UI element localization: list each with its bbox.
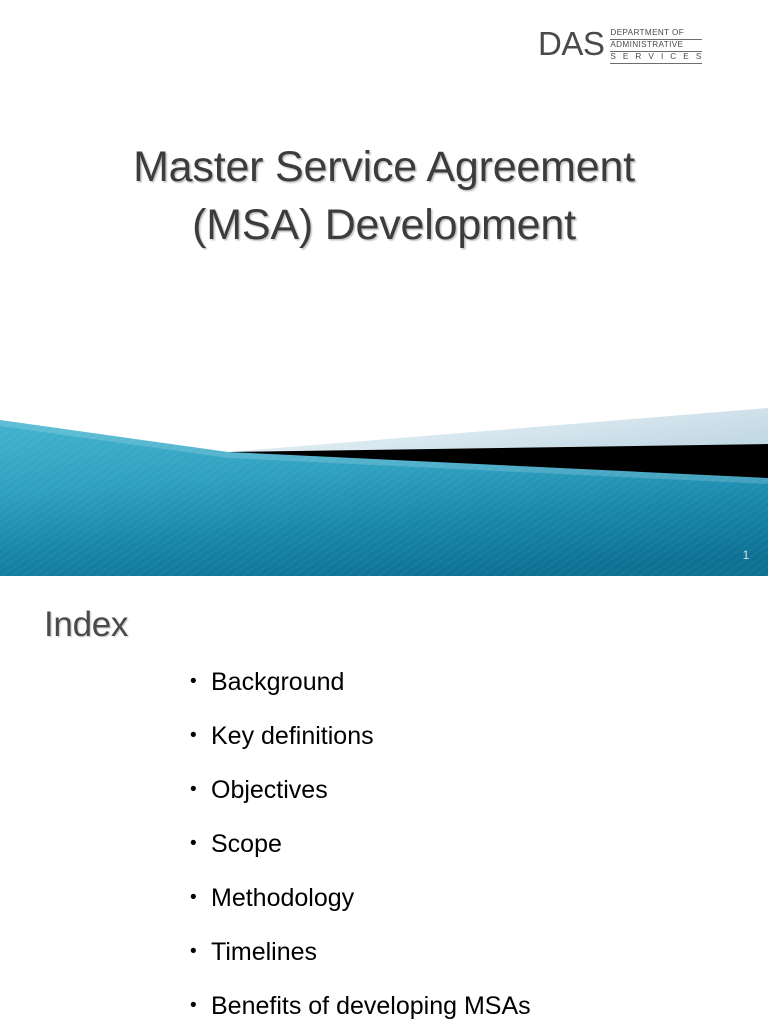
- list-item: Benefits of developing MSAs: [190, 992, 730, 1020]
- index-heading: Index: [44, 604, 128, 646]
- list-item: Key definitions: [190, 722, 730, 750]
- slide-number: 1: [738, 548, 754, 562]
- das-logo-line-administrative: ADMINISTRATIVE: [610, 40, 702, 52]
- index-list: Background Key definitions Objectives Sc…: [190, 668, 730, 1024]
- das-logo-line-services: S E R V I C E S: [610, 52, 702, 64]
- list-item: Timelines: [190, 938, 730, 966]
- das-logo-line-department: DEPARTMENT OF: [610, 28, 702, 40]
- slide-title: Master Service Agreement (MSA) Developme…: [50, 138, 718, 254]
- list-item: Methodology: [190, 884, 730, 912]
- slide-title-line-2: (MSA) Development: [50, 196, 718, 254]
- das-logo-subtext: DEPARTMENT OF ADMINISTRATIVE S E R V I C…: [610, 28, 702, 64]
- list-item: Background: [190, 668, 730, 696]
- list-item: Scope: [190, 830, 730, 858]
- slide-title-line-1: Master Service Agreement: [50, 138, 718, 196]
- title-slide: DAS DEPARTMENT OF ADMINISTRATIVE S E R V…: [0, 0, 768, 576]
- das-wordmark: DAS: [538, 27, 604, 60]
- decorative-banner-graphic: [0, 408, 768, 576]
- list-item: Objectives: [190, 776, 730, 804]
- das-logo: DAS DEPARTMENT OF ADMINISTRATIVE S E R V…: [538, 26, 708, 66]
- index-slide: Index Background Key definitions Objecti…: [0, 576, 768, 1024]
